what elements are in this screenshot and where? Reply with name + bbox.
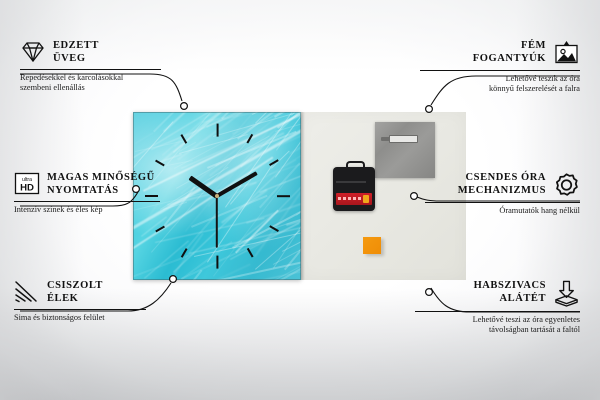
callout-title-line1: HABSZIVACS bbox=[474, 280, 546, 291]
gear-icon bbox=[553, 172, 580, 198]
callout-title-line2: FOGANTYÚK bbox=[473, 53, 546, 64]
ultra-hd-icon: ultra HD bbox=[14, 172, 40, 195]
callout-rule bbox=[420, 70, 580, 71]
picture-hanger-icon bbox=[553, 40, 580, 66]
callout-description: Óramutatók hang nélkül bbox=[425, 206, 580, 216]
callout-desc-line2: távolságban tartását a faltól bbox=[489, 325, 580, 334]
callout-rule bbox=[14, 201, 160, 202]
callout-desc-line2: szembeni ellenállás bbox=[20, 83, 85, 92]
callout-description: Sima és biztonságos felület bbox=[14, 313, 174, 323]
callout-header: CSENDES ÓRA MECHANIZMUS bbox=[425, 172, 580, 198]
callout-title-line1: CSISZOLT bbox=[47, 280, 103, 291]
callout-tempered-glass: EDZETT ÜVEG Repedésekkel és karcolásokka… bbox=[20, 40, 180, 94]
callout-title-line1: CSENDES ÓRA bbox=[466, 172, 546, 183]
arrow-onto-pad-icon bbox=[553, 280, 580, 307]
infographic-stage: EDZETT ÜVEG Repedésekkel és karcolásokka… bbox=[0, 0, 600, 400]
callout-rule bbox=[415, 311, 580, 312]
callout-header: EDZETT ÜVEG bbox=[20, 40, 180, 65]
callout-rule bbox=[425, 202, 580, 203]
callout-title: HABSZIVACS ALÁTÉT bbox=[474, 280, 546, 305]
clock-mechanism bbox=[333, 167, 375, 211]
callout-high-quality-print: ultra HD MAGAS MINŐSÉGŰ NYOMTATÁS Intenz… bbox=[14, 172, 189, 215]
callout-title: MAGAS MINŐSÉGŰ NYOMTATÁS bbox=[47, 172, 155, 197]
callout-rule bbox=[14, 309, 146, 310]
callout-header: HABSZIVACS ALÁTÉT bbox=[415, 280, 580, 307]
callout-desc-line1: Sima és biztonságos felület bbox=[14, 313, 105, 322]
callout-title: FÉM FOGANTYÚK bbox=[473, 40, 546, 65]
callout-header: CSISZOLT ÉLEK bbox=[14, 280, 174, 305]
callout-desc-line1: Óramutatók hang nélkül bbox=[499, 206, 580, 215]
callout-foam-pad: HABSZIVACS ALÁTÉT Lehetővé teszi az óra … bbox=[415, 280, 580, 336]
callout-title: EDZETT ÜVEG bbox=[53, 40, 99, 65]
callout-title-line1: FÉM bbox=[521, 40, 546, 51]
battery-label bbox=[336, 193, 372, 205]
callout-rule bbox=[20, 69, 161, 70]
mechanism-seam bbox=[336, 181, 366, 183]
callout-title-line2: NYOMTATÁS bbox=[47, 185, 119, 196]
callout-polished-edges: CSISZOLT ÉLEK Sima és biztonságos felüle… bbox=[14, 280, 174, 323]
callout-desc-line1: Repedésekkel és karcolásokkal bbox=[20, 73, 123, 82]
diagonal-lines-icon bbox=[14, 280, 40, 304]
callout-header: FÉM FOGANTYÚK bbox=[420, 40, 580, 66]
callout-title-line1: EDZETT bbox=[53, 40, 99, 51]
callout-description: Lehetővé teszik az óra könnyű felszerelé… bbox=[420, 74, 580, 95]
battery-label-text bbox=[338, 197, 364, 200]
callout-description: Lehetővé teszi az óra egyenletes távolsá… bbox=[415, 315, 580, 336]
callout-title-line2: MECHANIZMUS bbox=[458, 185, 546, 196]
hanger-slot bbox=[389, 135, 418, 143]
ultra-hd-icon-large-text: HD bbox=[20, 183, 34, 194]
callout-title-line2: ALÁTÉT bbox=[500, 293, 546, 304]
callout-header: ultra HD MAGAS MINŐSÉGŰ NYOMTATÁS bbox=[14, 172, 189, 197]
callout-title-line1: MAGAS MINŐSÉGŰ bbox=[47, 172, 155, 183]
mechanism-hook bbox=[346, 161, 365, 171]
callout-desc-line1: Lehetővé teszi az óra egyenletes bbox=[473, 315, 580, 324]
callout-description: Repedésekkel és karcolásokkal szembeni e… bbox=[20, 73, 180, 94]
callout-metal-handles: FÉM FOGANTYÚK Lehetővé teszik az óra kön… bbox=[420, 40, 580, 95]
callout-desc-line1: Lehetővé teszik az óra bbox=[506, 74, 580, 83]
callout-silent-mechanism: CSENDES ÓRA MECHANIZMUS Óramutatók hang … bbox=[425, 172, 580, 216]
callout-desc-line1: Intenzív színek és éles kép bbox=[14, 205, 102, 214]
callout-title: CSISZOLT ÉLEK bbox=[47, 280, 103, 305]
callout-description: Intenzív színek és éles kép bbox=[14, 205, 189, 215]
callout-title-line2: ÜVEG bbox=[53, 53, 86, 64]
callout-desc-line2: könnyű felszerelését a falra bbox=[489, 84, 580, 93]
callout-title: CSENDES ÓRA MECHANIZMUS bbox=[458, 172, 546, 197]
metal-hanger-plate bbox=[375, 122, 435, 178]
foam-spacer-pad bbox=[363, 237, 381, 254]
diamond-icon bbox=[20, 40, 46, 64]
callout-title-line2: ÉLEK bbox=[47, 293, 78, 304]
